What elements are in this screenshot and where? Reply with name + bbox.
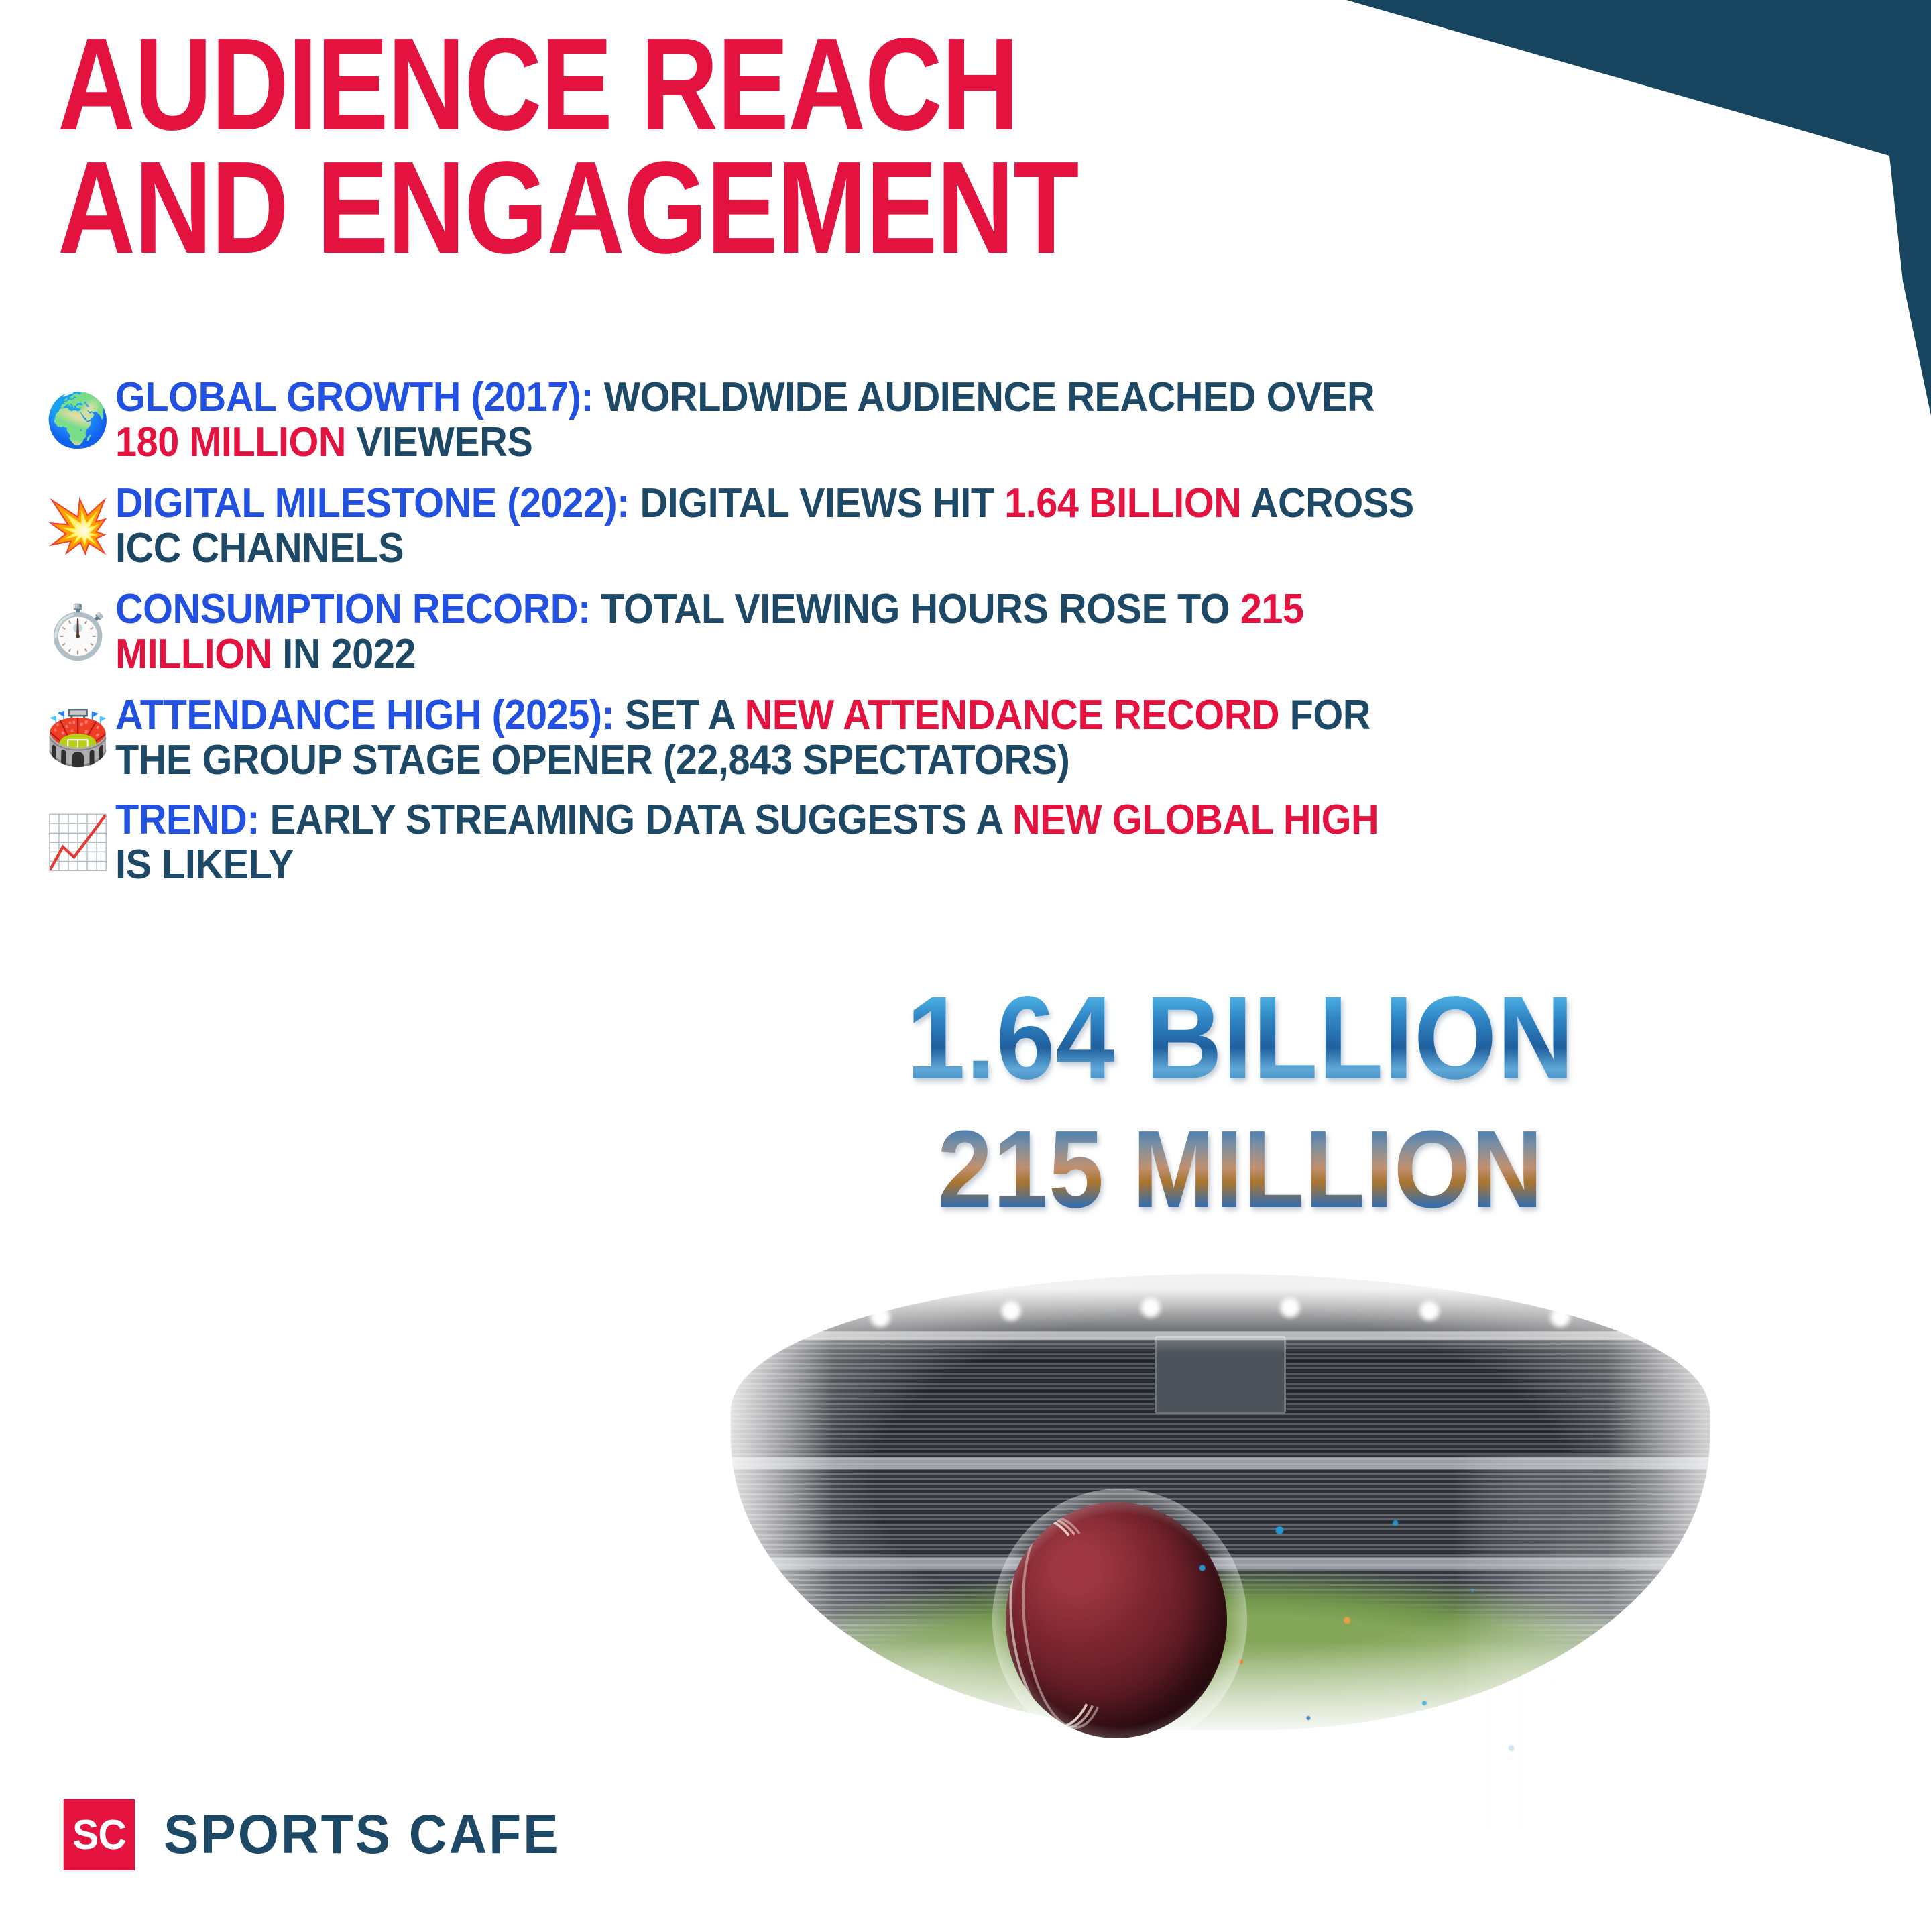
list-item: 🏟️ ATTENDANCE HIGH (2025): SET A NEW ATT… <box>40 693 1515 783</box>
list-item-text: CONSUMPTION RECORD: TOTAL VIEWING HOURS … <box>115 587 1417 677</box>
list-item-body-b: IS LIKELY <box>115 842 294 888</box>
list-item-body-a: TOTAL VIEWING HOURS ROSE TO <box>591 586 1240 632</box>
hero-stat-block: 1.64 BILLION 215 MILLION <box>744 979 1737 1225</box>
page-title-line-2: AND ENGAGEMENT <box>58 146 1078 270</box>
list-item: 🌍 GLOBAL GROWTH (2017): WORLDWIDE AUDIEN… <box>40 376 1515 465</box>
scoreboard <box>1155 1336 1286 1414</box>
list-item: 📈 TREND: EARLY STREAMING DATA SUGGESTS A… <box>40 798 1515 888</box>
list-item-body-a: DIGITAL VIEWS HIT <box>630 480 1004 526</box>
collision-icon: 💥 <box>40 500 115 553</box>
list-item-body-a: WORLDWIDE AUDIENCE REACHED OVER <box>593 374 1374 420</box>
brand-logo: SC SPORTS CAFE <box>62 1799 577 1870</box>
list-item-text: ATTENDANCE HIGH (2025): SET A NEW ATTEND… <box>115 693 1417 783</box>
chart-increasing-icon: 📈 <box>40 817 115 869</box>
floodlights <box>784 1284 1656 1364</box>
digital-pixel-burst <box>1173 1455 1656 1831</box>
list-item: 💥 DIGITAL MILESTONE (2022): DIGITAL VIEW… <box>40 481 1515 571</box>
hero-artwork: 1.64 BILLION 215 MILLION <box>590 986 1931 1844</box>
list-item-text: DIGITAL MILESTONE (2022): DIGITAL VIEWS … <box>115 481 1417 571</box>
stopwatch-icon: ⏱️ <box>40 606 115 659</box>
hero-stat-secondary: 215 MILLION <box>794 1115 1687 1225</box>
list-item: ⏱️ CONSUMPTION RECORD: TOTAL VIEWING HOU… <box>40 587 1515 677</box>
list-item-body-a: SET A <box>614 692 744 738</box>
list-item-highlight: NEW ATTENDANCE RECORD <box>745 692 1279 738</box>
key-stats-list: 🌍 GLOBAL GROWTH (2017): WORLDWIDE AUDIEN… <box>40 376 1515 888</box>
page-title-line-1: AUDIENCE REACH <box>58 23 1078 146</box>
brand-mark: SC <box>64 1799 135 1870</box>
list-item-text: TREND: EARLY STREAMING DATA SUGGESTS A N… <box>115 798 1417 888</box>
list-item-key: CONSUMPTION RECORD: <box>115 586 591 632</box>
hero-stat-primary: 1.64 BILLION <box>794 979 1687 1097</box>
list-item-key: TREND: <box>115 797 259 843</box>
list-item-body-b: IN 2022 <box>272 631 416 677</box>
page-title: AUDIENCE REACH AND ENGAGEMENT <box>58 23 1078 270</box>
brand-name: SPORTS CAFE <box>164 1803 561 1866</box>
corner-wedge-decoration <box>1341 0 1931 416</box>
list-item-highlight: NEW GLOBAL HIGH <box>1012 797 1379 843</box>
list-item-body-b: VIEWERS <box>346 419 532 465</box>
list-item-text: GLOBAL GROWTH (2017): WORLDWIDE AUDIENCE… <box>115 376 1417 465</box>
globe-icon: 🌍 <box>40 394 115 447</box>
list-item-key: ATTENDANCE HIGH (2025): <box>115 692 614 738</box>
list-item-highlight: 1.64 BILLION <box>1004 480 1241 526</box>
list-item-key: DIGITAL MILESTONE (2022): <box>115 480 630 526</box>
list-item-highlight: 180 MILLION <box>115 419 346 465</box>
list-item-key: GLOBAL GROWTH (2017): <box>115 374 593 420</box>
stadium-icon: 🏟️ <box>40 712 115 764</box>
list-item-body-a: EARLY STREAMING DATA SUGGESTS A <box>259 797 1012 843</box>
